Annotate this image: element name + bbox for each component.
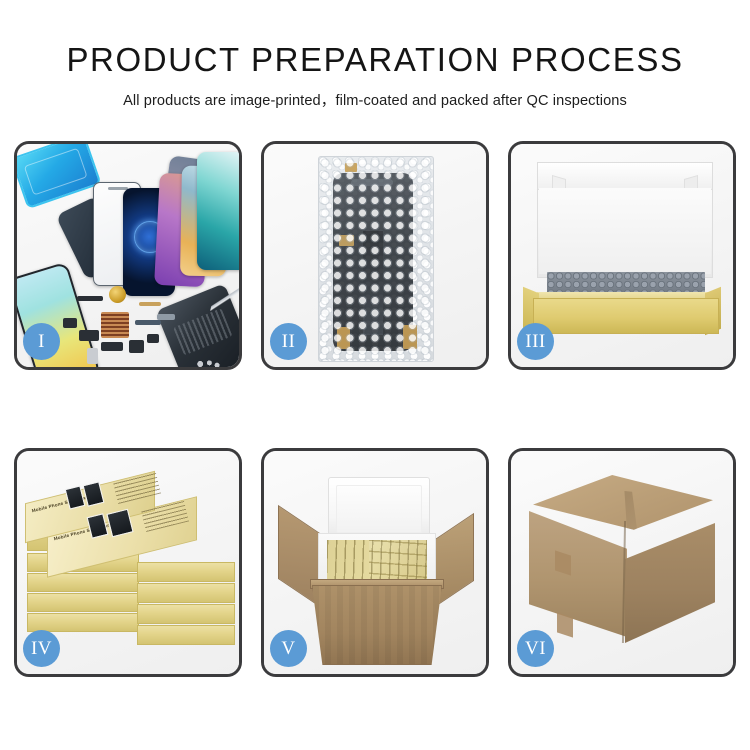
camera-module-icon — [79, 330, 99, 341]
stacked-box — [137, 604, 235, 624]
speaker-part-icon — [101, 342, 123, 351]
carton-seam-icon — [563, 491, 691, 531]
process-step-grid: I II — [14, 141, 736, 677]
step-badge-6: VI — [517, 630, 554, 667]
header: PRODUCT PREPARATION PROCESS All products… — [0, 0, 750, 110]
panel-products: I — [14, 141, 242, 370]
tweezers-icon — [210, 282, 242, 317]
panel-foam-carton: V — [261, 448, 489, 677]
open-carton — [278, 475, 474, 665]
small-part-icon — [147, 334, 159, 343]
bracket-part-icon — [63, 318, 77, 328]
step-badge-2: II — [270, 323, 307, 360]
step-badge-1: I — [23, 323, 60, 360]
stacked-box — [27, 613, 139, 632]
panel-bubble-wrap: II — [261, 141, 489, 370]
bubble-wrap-package — [318, 156, 434, 362]
gold-component-icon — [109, 286, 126, 303]
step-badge-3: III — [517, 323, 554, 360]
antenna-part-icon — [157, 314, 175, 320]
ribbon-cable-icon — [135, 320, 161, 325]
wrapped-screen-icon — [333, 173, 413, 351]
screws-icon — [195, 358, 221, 370]
yellow-tape-icon — [337, 327, 350, 349]
flex-cable-icon — [77, 296, 103, 301]
stacked-box — [137, 562, 235, 582]
foam-lid-icon — [328, 477, 430, 539]
stacked-box — [137, 583, 235, 603]
yellow-tape-icon — [339, 235, 354, 246]
sealed-carton — [527, 475, 719, 659]
panel-inner-box: III — [508, 141, 736, 370]
carton-tape-icon — [557, 612, 573, 637]
page-title: PRODUCT PREPARATION PROCESS — [0, 42, 750, 78]
stacked-box — [27, 573, 139, 592]
panel-box-stack: Mobile Phone Spare Parts Mobile Phone Sp… — [14, 448, 242, 677]
yellow-tape-icon — [345, 163, 357, 172]
connector-icon — [139, 302, 161, 306]
stacked-box — [27, 593, 139, 612]
carton-front-icon — [312, 585, 442, 665]
screen-flex-cable-icon — [363, 231, 383, 335]
circuit-board-icon — [101, 312, 129, 338]
panel-sealed-carton: VI — [508, 448, 736, 677]
yellow-box-front-icon — [533, 298, 719, 334]
page-subtitle: All products are image-printed，film-coat… — [0, 89, 750, 110]
phone-teal-icon — [197, 152, 242, 270]
step-badge-4: IV — [23, 630, 60, 667]
vibration-motor-icon — [129, 340, 144, 353]
yellow-tape-icon — [403, 325, 417, 349]
carton-left-face-icon — [529, 511, 627, 637]
carton-right-face-icon — [625, 523, 715, 643]
stacked-box — [137, 625, 235, 645]
foam-liner-icon — [539, 188, 711, 274]
product-preparation-infographic: PRODUCT PREPARATION PROCESS All products… — [0, 0, 750, 750]
step-badge-5: V — [270, 630, 307, 667]
sim-tray-icon — [87, 348, 98, 364]
